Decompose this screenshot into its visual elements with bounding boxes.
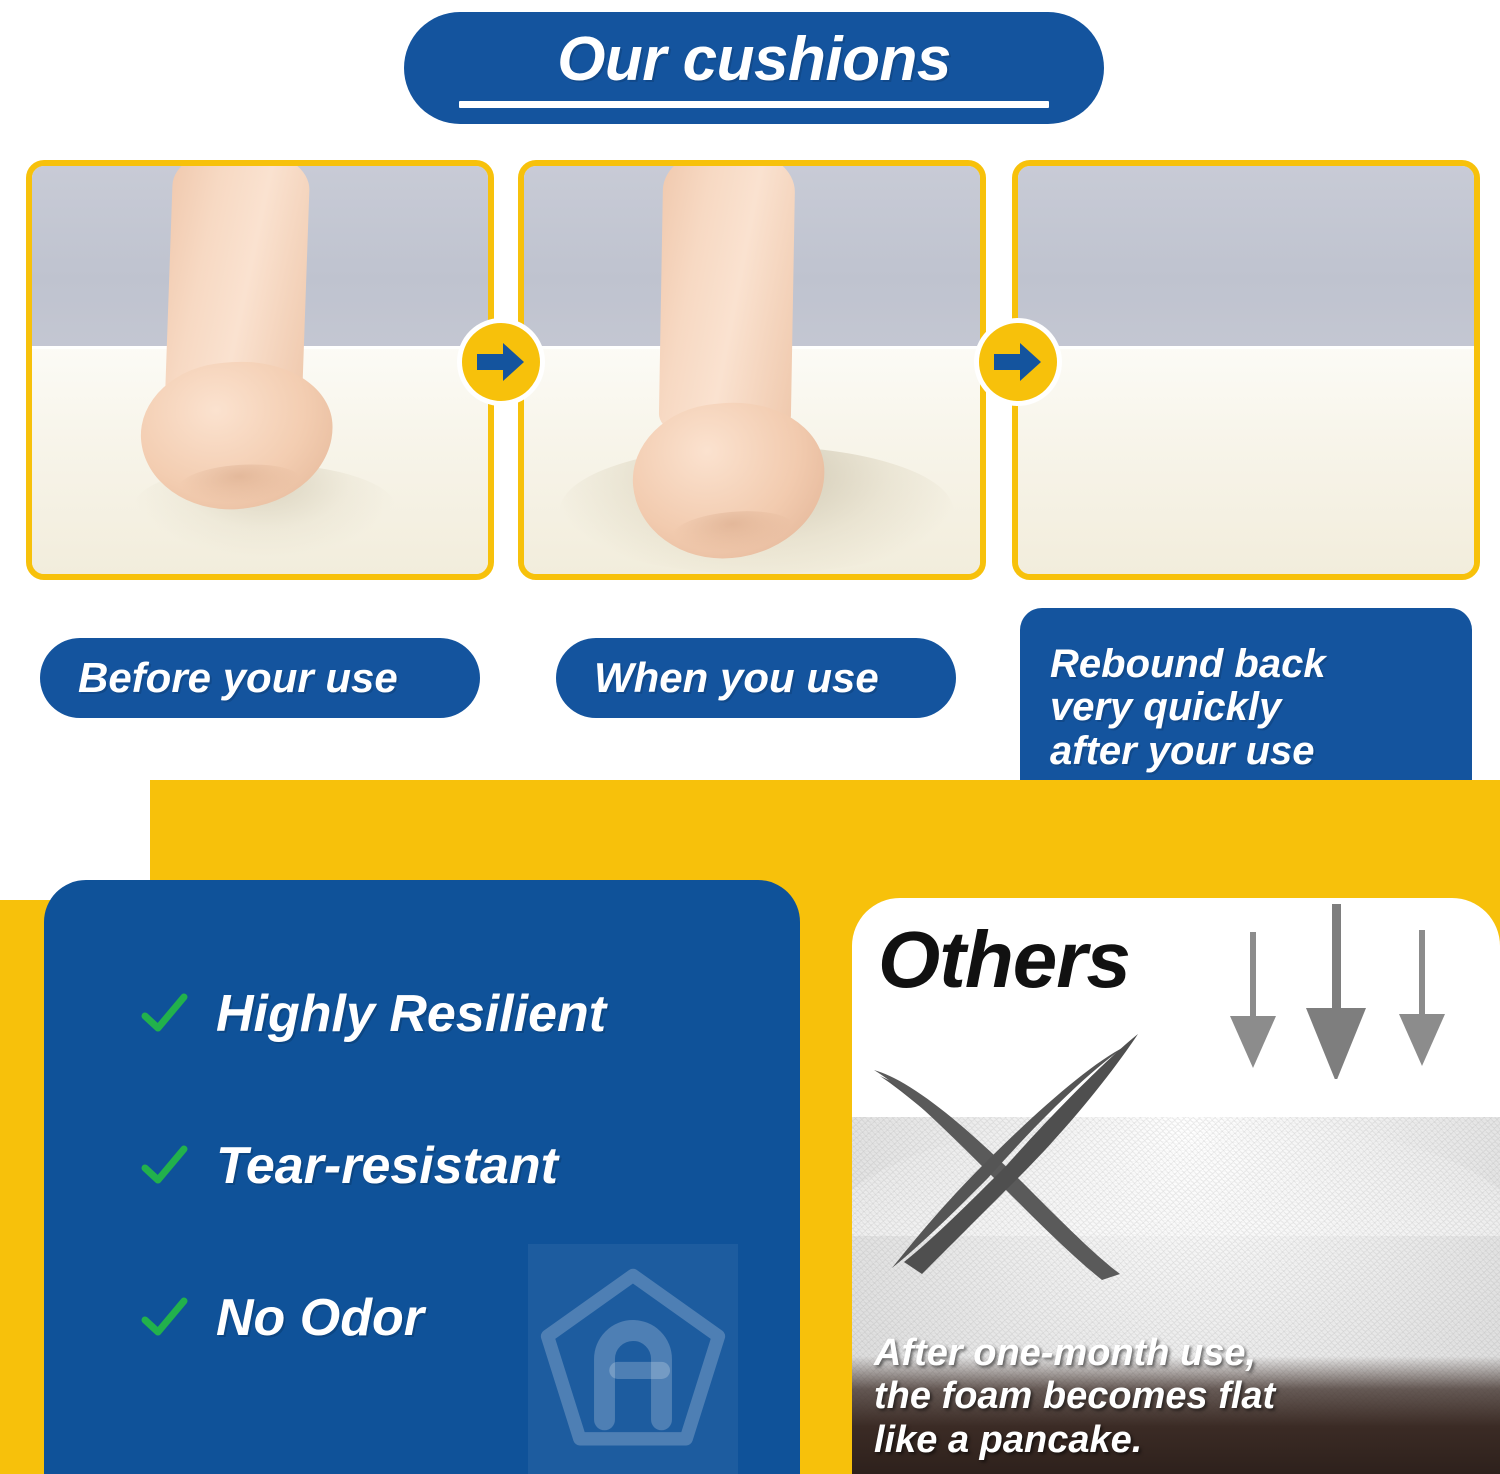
caption-text: When you use bbox=[594, 654, 879, 702]
pentagon-a-logo-icon bbox=[528, 1244, 738, 1474]
check-icon bbox=[140, 1294, 188, 1342]
infographic-page: Our cushions bbox=[0, 0, 1500, 1474]
feature-item: Highly Resilient bbox=[140, 984, 606, 1044]
photo-background bbox=[1018, 166, 1474, 354]
arrow-right-icon bbox=[974, 318, 1062, 406]
caption-rebound: Rebound back very quickly after your use bbox=[1020, 608, 1472, 808]
caption-line-1: Rebound back bbox=[1050, 643, 1326, 686]
x-brush-mark-icon bbox=[862, 1004, 1162, 1304]
caption-when-you-use: When you use bbox=[556, 638, 956, 718]
title-underline bbox=[459, 101, 1049, 108]
caption-line-2: very quickly bbox=[1050, 686, 1281, 729]
downward-pressure-arrows bbox=[1214, 904, 1464, 1079]
others-caption: After one-month use, the foam becomes fl… bbox=[874, 1332, 1275, 1462]
page-title: Our cushions bbox=[557, 29, 951, 95]
feature-label: Tear-resistant bbox=[216, 1136, 558, 1196]
check-icon bbox=[140, 1142, 188, 1190]
others-panel: Others bbox=[852, 898, 1500, 1474]
others-caption-line-1: After one-month use, bbox=[874, 1332, 1275, 1375]
feature-item: Tear-resistant bbox=[140, 1136, 606, 1196]
photo-when-you-use bbox=[518, 160, 986, 580]
others-caption-line-2: the foam becomes flat bbox=[874, 1375, 1275, 1418]
feature-label: Highly Resilient bbox=[216, 984, 606, 1044]
top-section: Our cushions bbox=[0, 0, 1500, 820]
page-title-pill: Our cushions bbox=[404, 12, 1104, 124]
photo-before-use bbox=[26, 160, 494, 580]
others-caption-line-3: like a pancake. bbox=[874, 1419, 1275, 1462]
feature-label: No Odor bbox=[216, 1288, 424, 1348]
features-panel: Highly Resilient Tear-resistant No Odor bbox=[44, 880, 800, 1474]
photo-rebounded bbox=[1012, 160, 1480, 580]
caption-line-3: after your use bbox=[1050, 730, 1315, 773]
check-icon bbox=[140, 990, 188, 1038]
others-title: Others bbox=[878, 914, 1130, 1006]
foam-surface bbox=[1018, 346, 1474, 574]
caption-text: Before your use bbox=[78, 654, 398, 702]
caption-before-use: Before your use bbox=[40, 638, 480, 718]
arrow-right-icon bbox=[457, 318, 545, 406]
